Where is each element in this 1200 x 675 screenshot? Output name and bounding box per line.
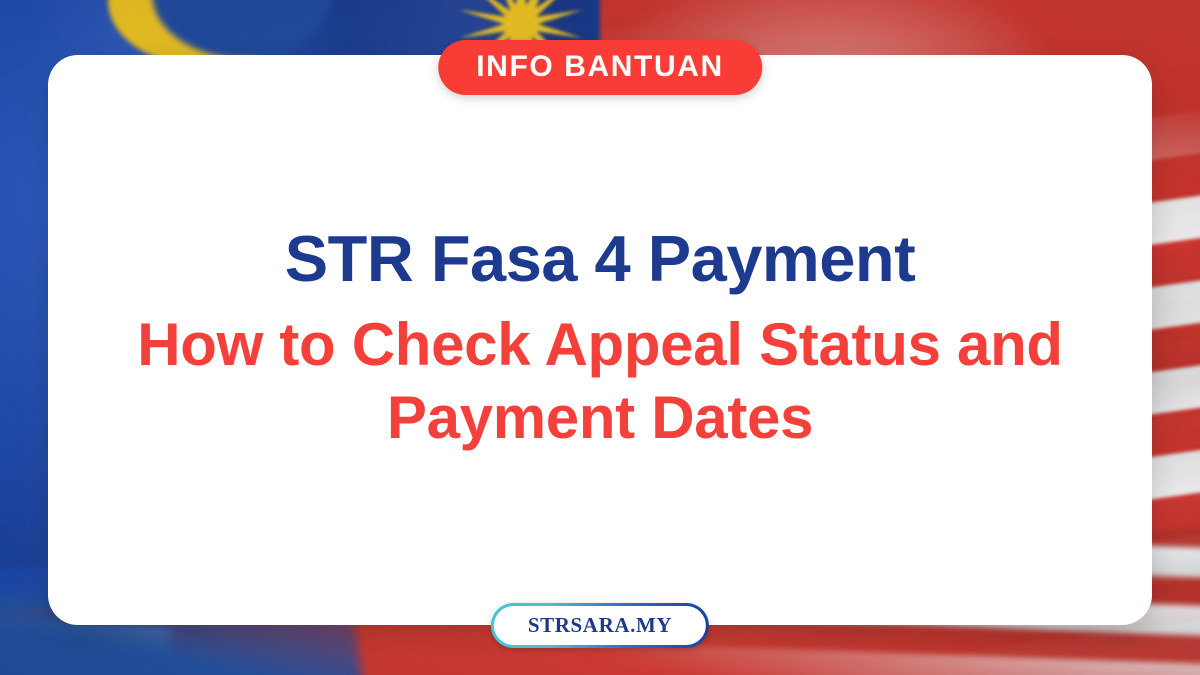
page-title: STR Fasa 4 Payment: [285, 225, 915, 294]
info-badge: INFO BANTUAN: [438, 40, 762, 95]
site-badge[interactable]: STRSARA.MY: [491, 603, 709, 648]
site-badge-label: STRSARA.MY: [494, 606, 706, 645]
card-content: STR Fasa 4 Payment How to Check Appeal S…: [48, 55, 1152, 625]
page-subtitle: How to Check Appeal Status and Payment D…: [95, 308, 1105, 454]
poster-canvas: STR Fasa 4 Payment How to Check Appeal S…: [0, 0, 1200, 675]
